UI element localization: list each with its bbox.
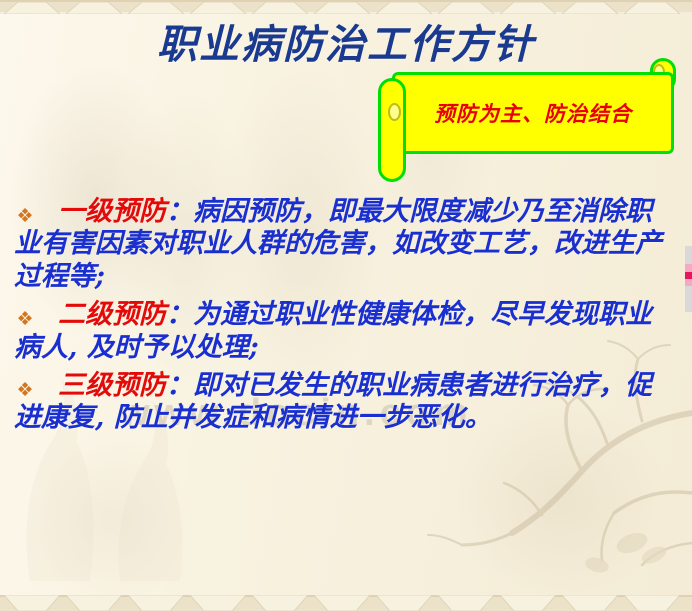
scroll-banner: 预防为主、防治结合 [378, 62, 678, 182]
bottom-ornament-band [0, 595, 692, 611]
bullet-list: ❖ 一级预防：病因预防，即最大限度减少乃至消除职业有害因素对职业人群的危害，如改… [0, 196, 692, 441]
diamond-bullet-icon: ❖ [16, 208, 34, 226]
page-edge-artifact [685, 246, 692, 312]
scroll-curl-left-icon [388, 103, 401, 121]
list-item: ❖ 二级预防：为通过职业性健康体检，尽早发现职业病人, 及时予以处理; [0, 299, 692, 364]
bullet-lead: 二级预防 [58, 299, 166, 330]
diamond-bullet-icon: ❖ [16, 382, 34, 400]
list-item: ❖ 一级预防：病因预防，即最大限度减少乃至消除职业有害因素对职业人群的危害，如改… [0, 196, 692, 293]
bullet-text: 一级预防：病因预防，即最大限度减少乃至消除职业有害因素对职业人群的危害，如改变工… [14, 196, 676, 293]
scroll-banner-body: 预防为主、防治结合 [392, 72, 674, 154]
slide-canvas: 职业病防治工作方针 预防为主、防治结合 www.docin.com ❖ 一级预防… [0, 0, 692, 611]
bullet-text: 三级预防：即对已发生的职业病患者进行治疗，促进康复, 防止并发症和病情进一步恶化… [14, 370, 676, 435]
scroll-roll-left [378, 78, 406, 182]
bullet-lead: 三级预防 [58, 370, 166, 401]
bullet-lead: 一级预防 [58, 196, 166, 227]
list-item: ❖ 三级预防：即对已发生的职业病患者进行治疗，促进康复, 防止并发症和病情进一步… [0, 370, 692, 435]
scroll-banner-text: 预防为主、防治结合 [434, 98, 632, 128]
diamond-bullet-icon: ❖ [16, 311, 34, 329]
bullet-text: 二级预防：为通过职业性健康体检，尽早发现职业病人, 及时予以处理; [14, 299, 676, 364]
